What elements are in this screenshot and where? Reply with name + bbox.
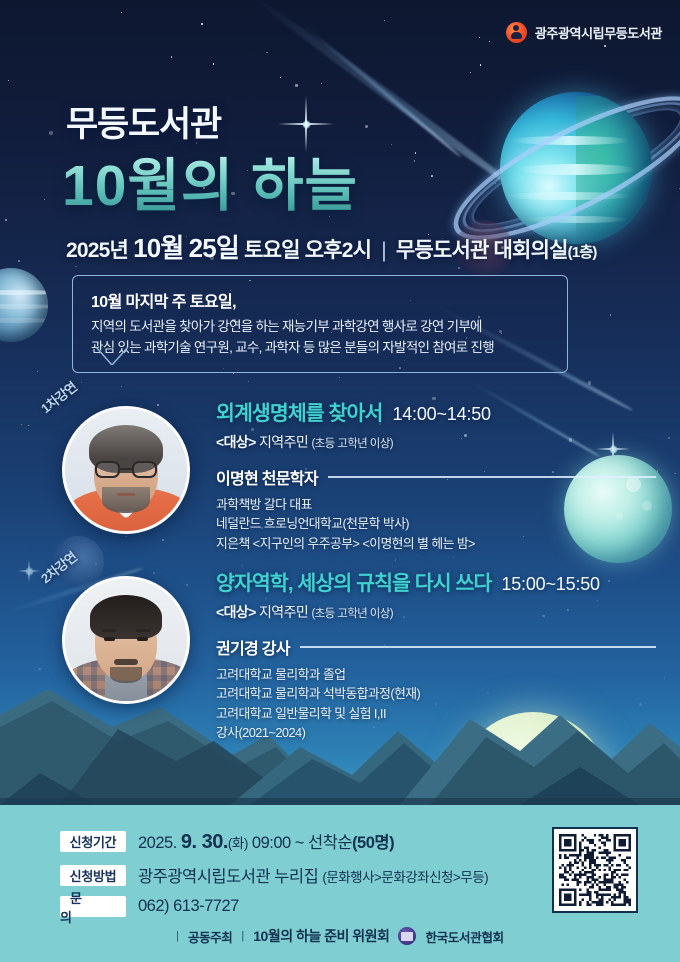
lecture-1-credits: 과학책방 갈다 대표 네덜란드 흐로닝언대학교(천문학 박사) 지은책 <지구인… <box>216 495 656 553</box>
speaker-divider <box>328 476 656 477</box>
registration-period-label: 신청기간 <box>60 831 126 852</box>
lecture-2-target: <대상> 지역주민 (초등 고학년 이상) <box>216 602 656 622</box>
event-time: 오후2시 <box>305 239 371 262</box>
period-capacity: (50명) <box>352 834 394 852</box>
lecture-1-speaker: 이명현 천문학자 <box>216 465 318 489</box>
lecture-1-title-row: 외계생명체를 찾아서 14:00~14:50 <box>216 396 656 426</box>
lecture-2-title-row: 양자역학, 세상의 규칙을 다시 쓰다 15:00~15:50 <box>216 566 656 596</box>
lecture-2-speaker: 권기경 강사 <box>216 635 290 659</box>
lecture-1-target-note: (초등 고학년 이상) <box>311 438 393 450</box>
credit-item: 고려대학교 물리학과 석박동합과정(현재) <box>216 684 656 703</box>
cohost-label: 공동주최 <box>188 927 232 946</box>
datetime-separator: | <box>381 239 386 262</box>
lecture-2-title: 양자역학, 세상의 규칙을 다시 쓰다 <box>216 566 491 596</box>
lecture-1-target-value: 지역주민 <box>259 434 308 450</box>
credit-item: 과학책방 갈다 대표 <box>216 495 656 514</box>
lecture-2-avatar <box>62 576 190 704</box>
committee-name: 10월의 하늘 준비 위원회 <box>253 926 389 946</box>
event-day: 25일 <box>189 233 239 263</box>
credit-item: 네덜란드 흐로닝언대학교(천문학 박사) <box>216 514 656 533</box>
event-datetime-line: 2025년 10월 25일 토요일 오후2시 | 무등도서관 대회의실(1층) <box>66 228 597 265</box>
lecture-1-time: 14:00~14:50 <box>392 404 490 425</box>
lecture-2-target-label: <대상> <box>216 604 256 620</box>
library-name: 광주광역시립무등도서관 <box>535 23 662 42</box>
intro-heading: 10월 마지막 주 토요일, <box>91 288 551 312</box>
intro-callout: 10월 마지막 주 토요일, 지역의 도서관을 찾아가 강연을 하는 재능기부 … <box>72 275 568 373</box>
footer-credits: | 공동주최 | 10월의 하늘 준비 위원회 한국도서관협회 <box>0 926 680 946</box>
registration-panel: 신청기간 2025. 9. 30.(화) 09:00 ~ 선착순(50명) 신청… <box>0 805 680 962</box>
event-venue-floor: (1층) <box>568 244 597 261</box>
method-main: 광주광역시립도서관 누리집 <box>138 868 318 886</box>
lecture-1-target-label: <대상> <box>216 434 256 450</box>
library-brand: 광주광역시립무등도서관 <box>506 22 662 43</box>
library-emblem-icon <box>506 22 527 43</box>
footer-bar-left: | <box>176 930 179 942</box>
comet-streak-2 <box>299 20 462 158</box>
period-weekday: (화) <box>228 836 248 851</box>
registration-row-contact: 문 의 062) 613-7727 <box>60 896 488 917</box>
speaker-divider <box>300 646 656 647</box>
period-date: 9. 30. <box>181 831 228 853</box>
qr-code-icon[interactable] <box>552 827 638 913</box>
credit-item: 고려대학교 일반물리학 및 실험 I,II <box>216 704 656 723</box>
small-planet-left-icon <box>0 268 48 342</box>
lecture-1-title: 외계생명체를 찾아서 <box>216 396 382 426</box>
registration-row-method: 신청방법 광주광역시립도서관 누리집 (문화행사>문화강좌신청>무등) <box>60 863 488 887</box>
lecture-2-credits: 고려대학교 물리학과 졸업 고려대학교 물리학과 석박동합과정(현재) 고려대학… <box>216 665 656 743</box>
lecture-1-avatar <box>62 406 190 534</box>
credit-item: 고려대학교 물리학과 졸업 <box>216 665 656 684</box>
lecture-2-speaker-row: 권기경 강사 <box>216 635 656 659</box>
lecture-2-target-note: (초등 고학년 이상) <box>311 608 393 620</box>
registration-contact-label: 문 의 <box>60 896 126 917</box>
registration-method-value: 광주광역시립도서관 누리집 (문화행사>문화강좌신청>무등) <box>138 863 488 887</box>
lecture-1-target: <대상> 지역주민 (초등 고학년 이상) <box>216 432 656 452</box>
lecture-1-speaker-row: 이명현 천문학자 <box>216 465 656 489</box>
event-venue: 무등도서관 대회의실 <box>396 239 568 262</box>
registration-contact-value: 062) 613-7727 <box>138 897 239 916</box>
event-weekday: 토요일 <box>244 239 300 262</box>
poster-canvas: 광주광역시립무등도서관 무등도서관 10월의 하늘 2025년 10월 25일 … <box>0 0 680 962</box>
footer-bar-right: | <box>241 930 244 942</box>
intro-line-1: 지역의 도서관을 찾아가 강연을 하는 재능기부 과학강연 행사로 강연 기부에 <box>91 317 551 338</box>
method-path: (문화행사>문화강좌신청>무등) <box>322 870 488 885</box>
lecture-2-time: 15:00~15:50 <box>501 574 599 595</box>
period-rest: 09:00 ~ 선착순 <box>248 834 352 852</box>
intro-line-2: 관심 있는 과학기술 연구원, 교수, 과학자 등 많은 분들의 자발적인 참여… <box>91 338 551 359</box>
credit-item: 강사(2021~2024) <box>216 723 656 742</box>
registration-info: 신청기간 2025. 9. 30.(화) 09:00 ~ 선착순(50명) 신청… <box>60 829 488 926</box>
event-month: 10월 <box>133 233 183 263</box>
event-year: 2025년 <box>66 239 128 262</box>
association-name: 한국도서관협회 <box>425 927 503 946</box>
lecture-2-target-value: 지역주민 <box>259 604 308 620</box>
registration-period-value: 2025. 9. 30.(화) 09:00 ~ 선착순(50명) <box>138 829 394 854</box>
callout-tail <box>96 347 128 365</box>
registration-method-label: 신청방법 <box>60 865 126 886</box>
period-prefix: 2025. <box>138 834 181 852</box>
korean-library-association-icon <box>398 927 416 945</box>
hero-title: 10월의 하늘 <box>62 140 358 222</box>
credit-item: 지은책 <지구인의 우주공부> <이명현의 별 헤는 밤> <box>216 534 656 553</box>
registration-row-period: 신청기간 2025. 9. 30.(화) 09:00 ~ 선착순(50명) <box>60 829 488 854</box>
